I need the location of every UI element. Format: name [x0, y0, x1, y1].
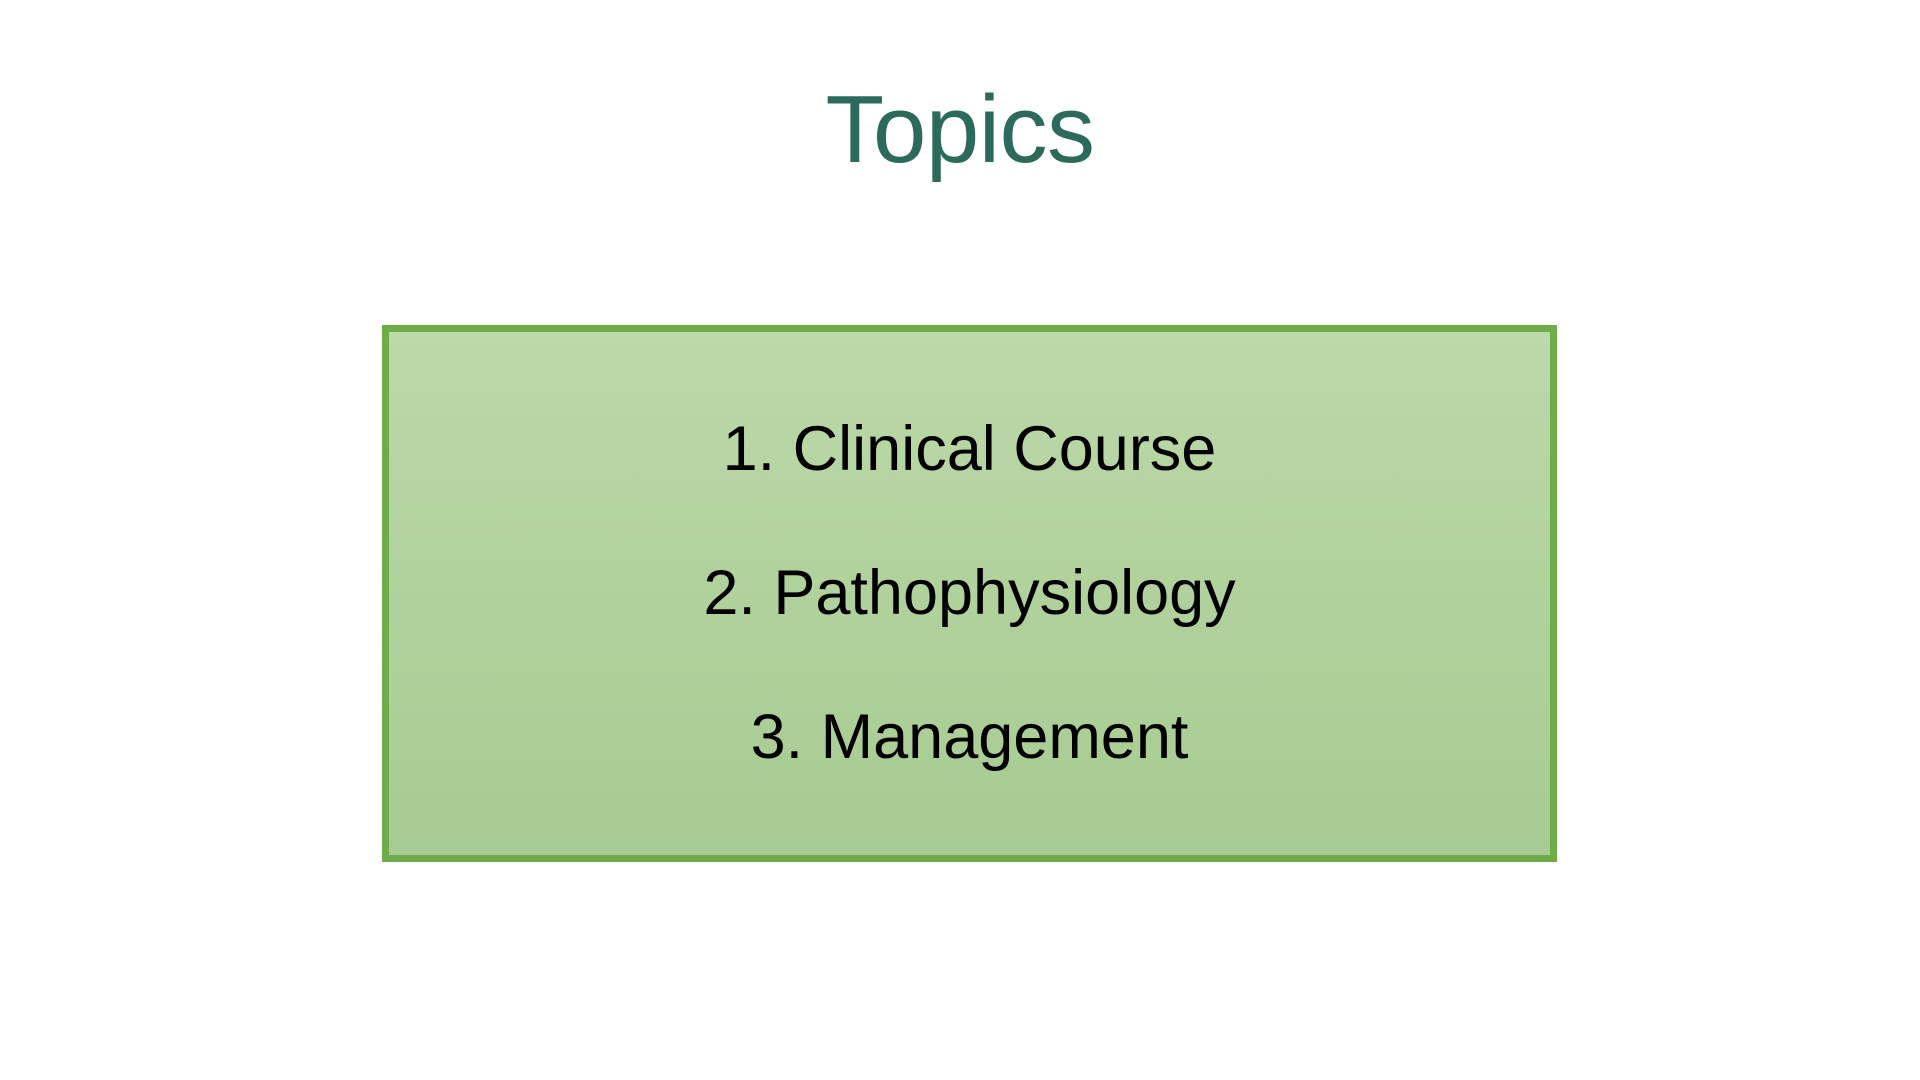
- page-title: Topics: [0, 78, 1920, 182]
- list-spacer: [389, 632, 1550, 699]
- list-item: 3. Management: [751, 699, 1189, 776]
- topics-box: 1. Clinical Course 2. Pathophysiology 3.…: [382, 325, 1557, 862]
- list-item: 1. Clinical Course: [723, 411, 1217, 488]
- list-spacer: [389, 488, 1550, 555]
- topics-list: 1. Clinical Course 2. Pathophysiology 3.…: [389, 411, 1550, 776]
- list-item: 2. Pathophysiology: [703, 555, 1235, 632]
- slide-canvas: Topics 1. Clinical Course 2. Pathophysio…: [0, 0, 1920, 1080]
